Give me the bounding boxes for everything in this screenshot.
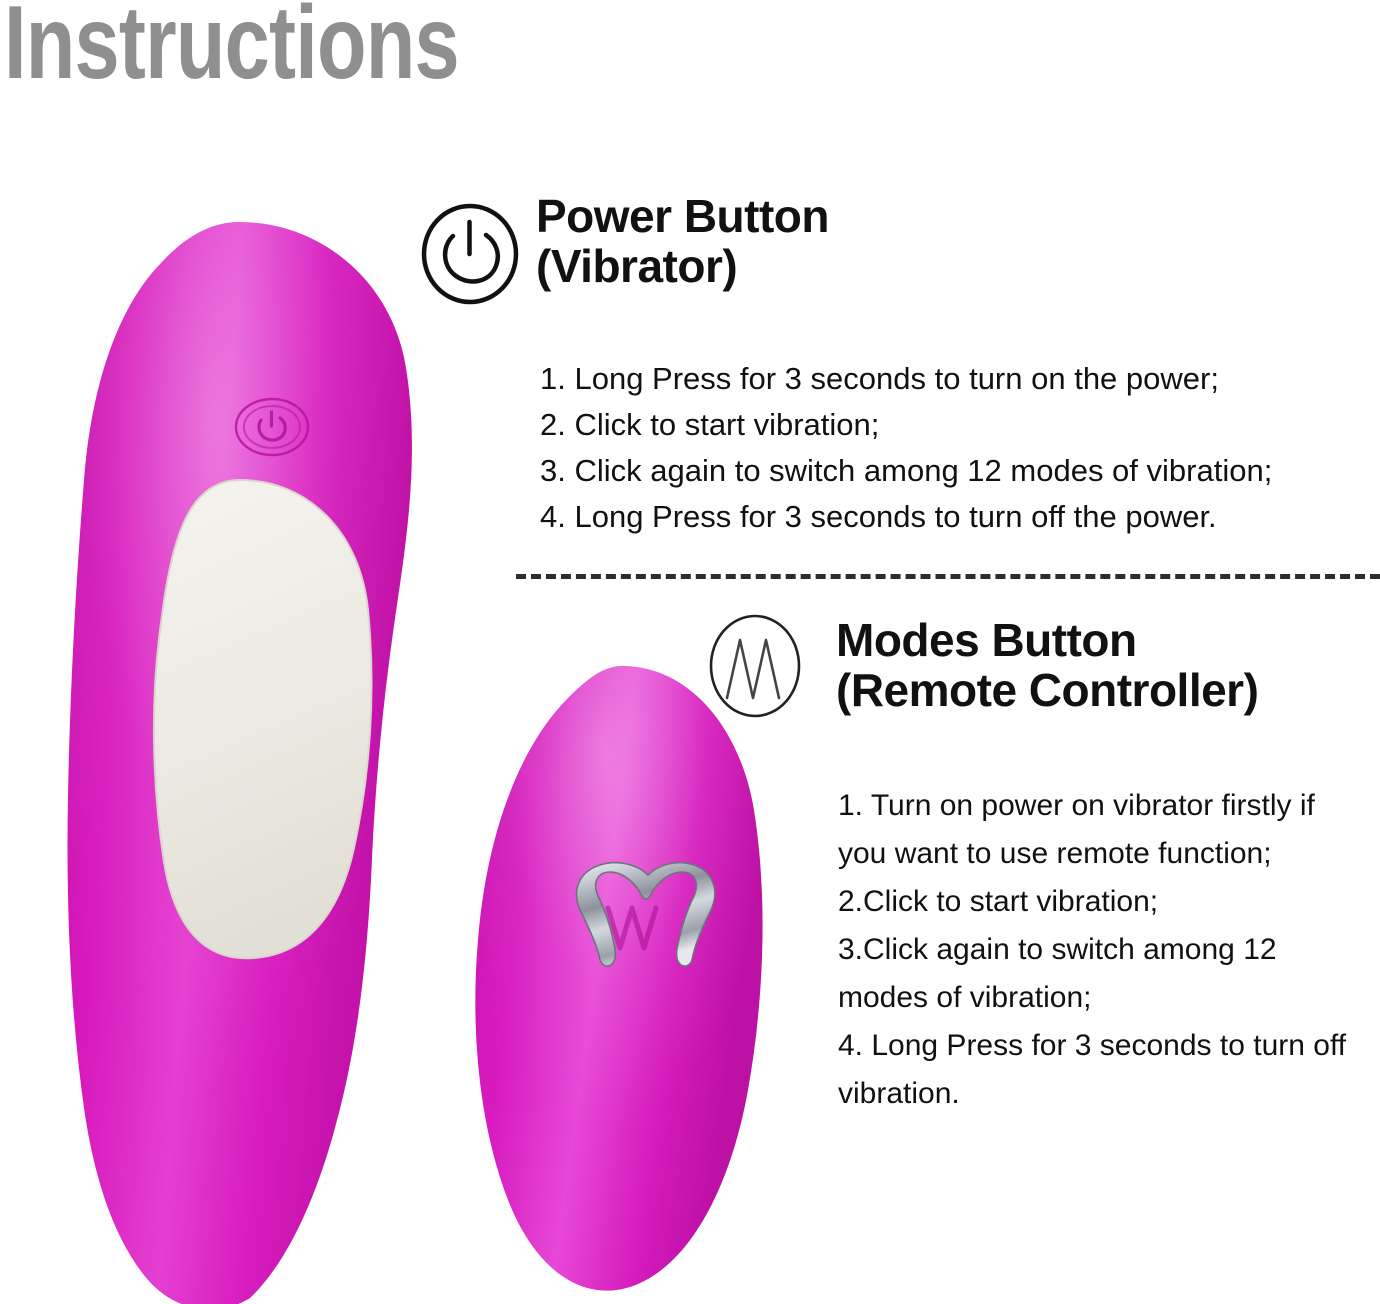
vibrator-body	[58, 218, 420, 1304]
power-icon	[420, 202, 520, 306]
list-item: 1. Turn on power on vibrator firstly if …	[838, 782, 1358, 878]
modes-steps-list: 1. Turn on power on vibrator firstly if …	[838, 782, 1358, 1118]
list-item: 4. Long Press for 3 seconds to turn off …	[540, 494, 1370, 540]
list-item: 3.Click again to switch among 12 modes o…	[838, 926, 1358, 1022]
page-title: Instructions	[4, 0, 459, 100]
power-heading-line-1: Power Button	[536, 192, 829, 242]
power-section-heading: Power Button (Vibrator)	[536, 192, 829, 291]
vibrator-illustration	[58, 218, 420, 1304]
instruction-sheet: Instructions	[0, 0, 1380, 1304]
list-item: 1. Long Press for 3 seconds to turn on t…	[540, 356, 1370, 402]
remote-controller-illustration	[462, 660, 782, 1300]
section-divider	[516, 574, 1380, 579]
power-steps-list: 1. Long Press for 3 seconds to turn on t…	[540, 356, 1370, 540]
list-item: 2. Click to start vibration;	[540, 402, 1370, 448]
list-item: 3. Click again to switch among 12 modes …	[540, 448, 1370, 494]
vibrator-power-button-emboss[interactable]	[233, 396, 311, 458]
modes-section-heading: Modes Button (Remote Controller)	[836, 616, 1258, 715]
power-heading-line-2: (Vibrator)	[536, 242, 829, 292]
remote-sheen	[475, 666, 762, 1291]
modes-heading-line-2: (Remote Controller)	[836, 666, 1258, 716]
remote-body	[462, 660, 782, 1300]
list-item: 2.Click to start vibration;	[838, 878, 1358, 926]
modes-heading-line-1: Modes Button	[836, 616, 1258, 666]
modes-wave-icon	[707, 612, 803, 720]
vibrator-white-pad	[154, 480, 372, 958]
list-item: 4. Long Press for 3 seconds to turn off …	[838, 1022, 1358, 1118]
